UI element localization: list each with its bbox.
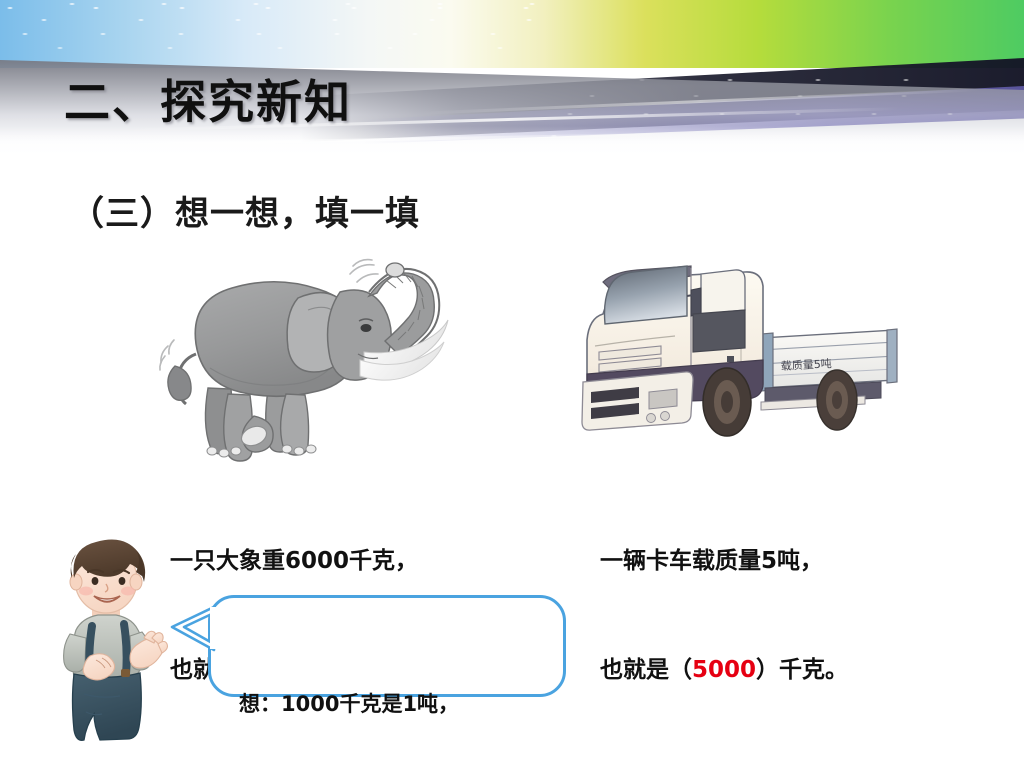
caption-truck-line2: 也就是（5000）千克。	[600, 652, 848, 688]
boy-character	[38, 534, 178, 750]
speech-bubble-text: 想：1000千克是1吨， 6000千克就是6吨。	[239, 614, 459, 768]
page-title: 二、探究新知	[64, 66, 352, 132]
speech-bubble: 想：1000千克是1吨， 6000千克就是6吨。	[208, 595, 566, 697]
speech-bubble-tail	[170, 604, 216, 652]
caption-truck-prefix: 也就是（	[600, 657, 692, 683]
section-subtitle: （三）想一想，填一填	[70, 186, 420, 235]
caption-truck: 一辆卡车载质量5吨， 也就是（5000）千克。	[600, 470, 848, 761]
speech-bubble-line1: 想：1000千克是1吨，	[239, 686, 459, 722]
caption-elephant-line1: 一只大象重6000千克，	[170, 543, 418, 579]
caption-truck-line1: 一辆卡车载质量5吨，	[600, 543, 848, 579]
answer-truck[interactable]: 5000	[692, 657, 756, 683]
slide-canvas: 二、探究新知 （三）想一想，填一填	[0, 0, 1024, 768]
banner-dot-texture	[0, 0, 560, 62]
elephant-illustration	[150, 248, 450, 470]
caption-truck-suffix: ）千克。	[756, 657, 848, 683]
truck-illustration: 载质量5吨	[565, 252, 955, 452]
